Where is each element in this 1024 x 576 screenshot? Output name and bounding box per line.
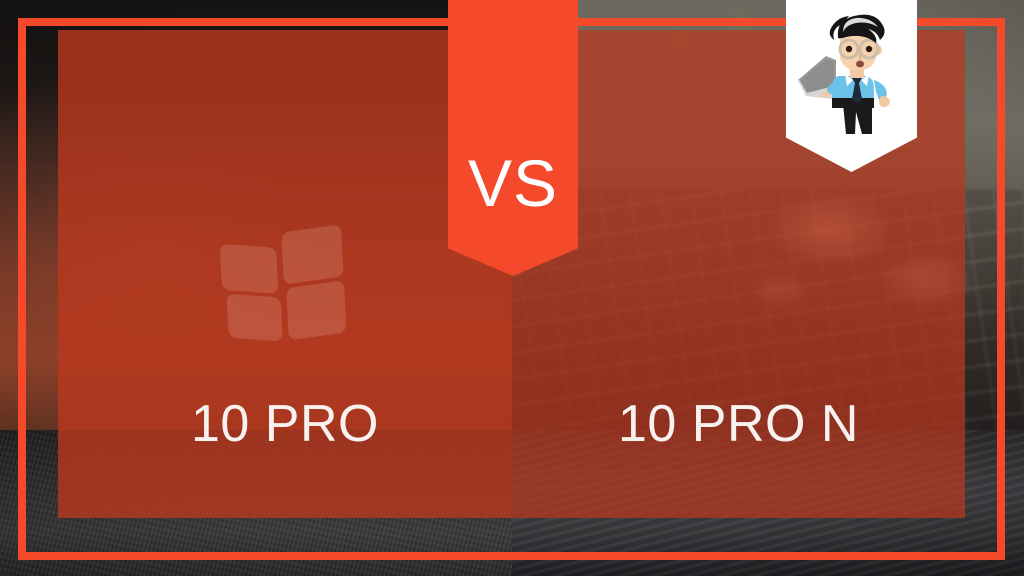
- logo-banner: [786, 0, 917, 172]
- versus-badge-label: VS: [468, 150, 558, 276]
- windows-logo-icon: [215, 223, 351, 350]
- versus-badge: VS: [448, 0, 578, 276]
- cartoon-man-with-laptop-icon: [786, 8, 917, 138]
- right-product-label: 10 PRO N: [512, 398, 965, 450]
- legs: [843, 104, 872, 134]
- versus-graphic: VS 10 PRO 10 PRO N: [0, 0, 1024, 576]
- right-eye: [866, 46, 872, 52]
- mouth: [856, 61, 864, 68]
- right-hand: [879, 96, 890, 107]
- left-eye: [846, 46, 852, 52]
- left-product-label: 10 PRO: [58, 398, 512, 450]
